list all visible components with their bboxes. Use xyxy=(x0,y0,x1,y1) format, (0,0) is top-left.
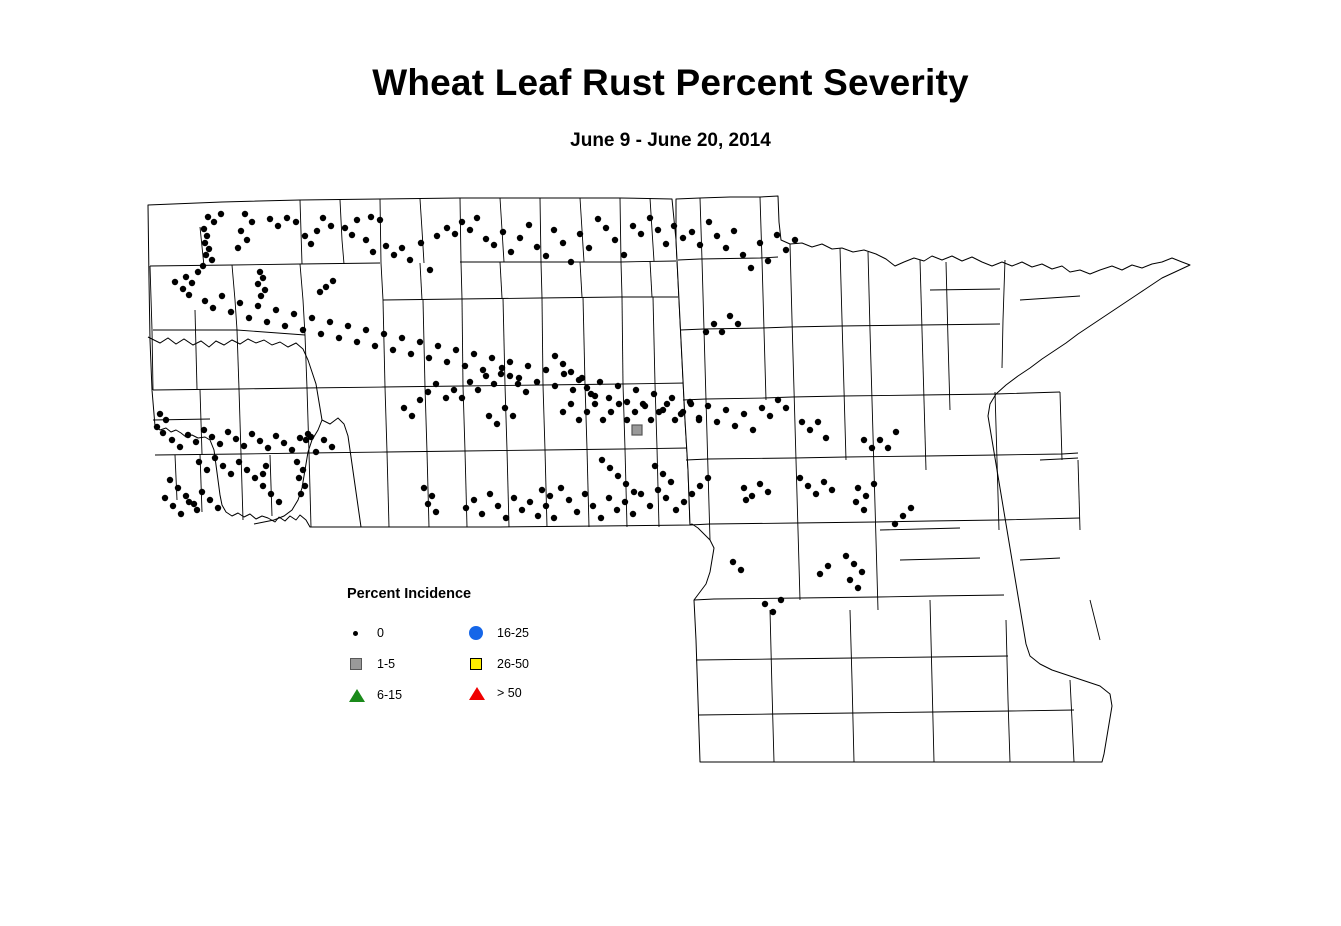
legend-title: Percent Incidence xyxy=(347,586,587,602)
map-svg xyxy=(0,0,1341,926)
red-triangle-icon xyxy=(467,684,489,702)
legend-label-6-15: 6-15 xyxy=(377,688,402,702)
legend-label-over-50: > 50 xyxy=(497,686,522,700)
legend-label-1-5: 1-5 xyxy=(377,657,395,671)
yellow-square-icon xyxy=(467,655,489,673)
map-page: Wheat Leaf Rust Percent Severity June 9 … xyxy=(0,0,1341,926)
legend-item-6-15[interactable]: 6-15 xyxy=(347,686,402,704)
north-dakota-state xyxy=(148,198,690,527)
legend: Percent Incidence 0 1-5 6-15 16-25 26-50 xyxy=(347,586,587,708)
mn-state-outline xyxy=(676,196,1190,762)
legend-item-1-5[interactable]: 1-5 xyxy=(347,655,395,673)
legend-item-0[interactable]: 0 xyxy=(347,624,384,642)
legend-item-26-50[interactable]: 26-50 xyxy=(467,655,529,673)
blue-circle-icon xyxy=(467,624,489,642)
grey-square-icon xyxy=(347,655,369,673)
green-triangle-icon xyxy=(347,686,369,704)
legend-item-16-25[interactable]: 16-25 xyxy=(467,624,529,642)
nd-state-outline xyxy=(148,198,690,527)
minnesota-state xyxy=(676,196,1190,762)
legend-items: 0 1-5 6-15 16-25 26-50 > 50 xyxy=(347,624,587,708)
map-canvas[interactable] xyxy=(0,0,1341,926)
legend-item-over-50[interactable]: > 50 xyxy=(467,684,522,702)
black-dot-icon xyxy=(347,624,369,642)
legend-label-16-25: 16-25 xyxy=(497,626,529,640)
legend-label-26-50: 26-50 xyxy=(497,657,529,671)
legend-label-0: 0 xyxy=(377,626,384,640)
